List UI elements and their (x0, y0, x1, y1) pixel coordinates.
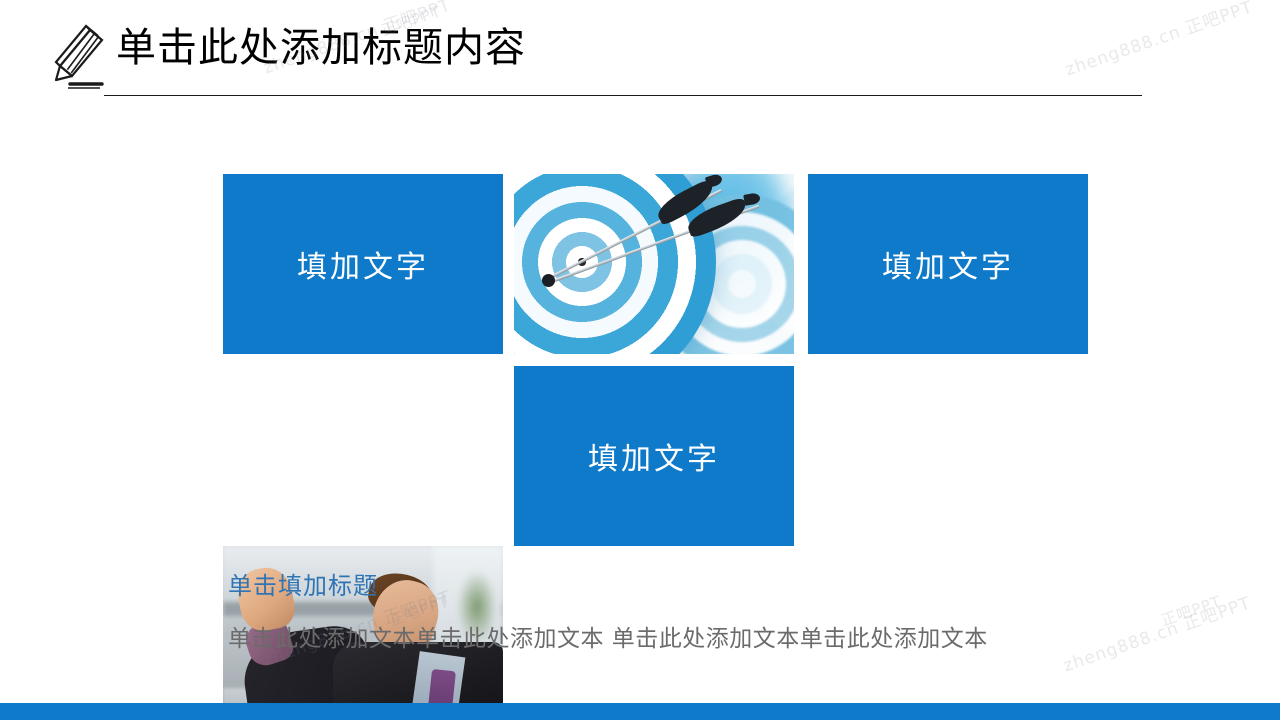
tile-top-left[interactable]: 填加文字 (223, 174, 503, 354)
slide-canvas: 单击此处添加标题内容 填加文字 (0, 0, 1280, 720)
slide-header: 单击此处添加标题内容 (0, 0, 1280, 110)
tile-label: 填加文字 (297, 242, 429, 286)
caption-title: 单击填加标题 (228, 566, 1128, 601)
tile-label: 填加文字 (882, 242, 1014, 286)
tile-top-center-image[interactable] (514, 174, 794, 354)
tile-top-right[interactable]: 填加文字 (808, 174, 1088, 354)
footer-accent-bar (0, 703, 1280, 720)
pencil-icon (46, 24, 110, 96)
bullseye-impact-point (542, 274, 555, 287)
archery-target-arrows-photo (514, 174, 794, 354)
tile-label: 填加文字 (588, 434, 720, 478)
title-divider (104, 95, 1142, 96)
content-grid: 填加文字 (223, 174, 1091, 546)
tile-bottom-center[interactable]: 填加文字 (514, 366, 794, 546)
caption-block: 单击填加标题 单击此处添加文本单击此处添加文本 单击此处添加文本单击此处添加文本 (228, 566, 1128, 653)
watermark: 正吧PPT (1158, 590, 1224, 630)
caption-body-text: 单击此处添加文本单击此处添加文本 单击此处添加文本单击此处添加文本 (228, 619, 1128, 653)
page-title: 单击此处添加标题内容 (116, 22, 526, 74)
